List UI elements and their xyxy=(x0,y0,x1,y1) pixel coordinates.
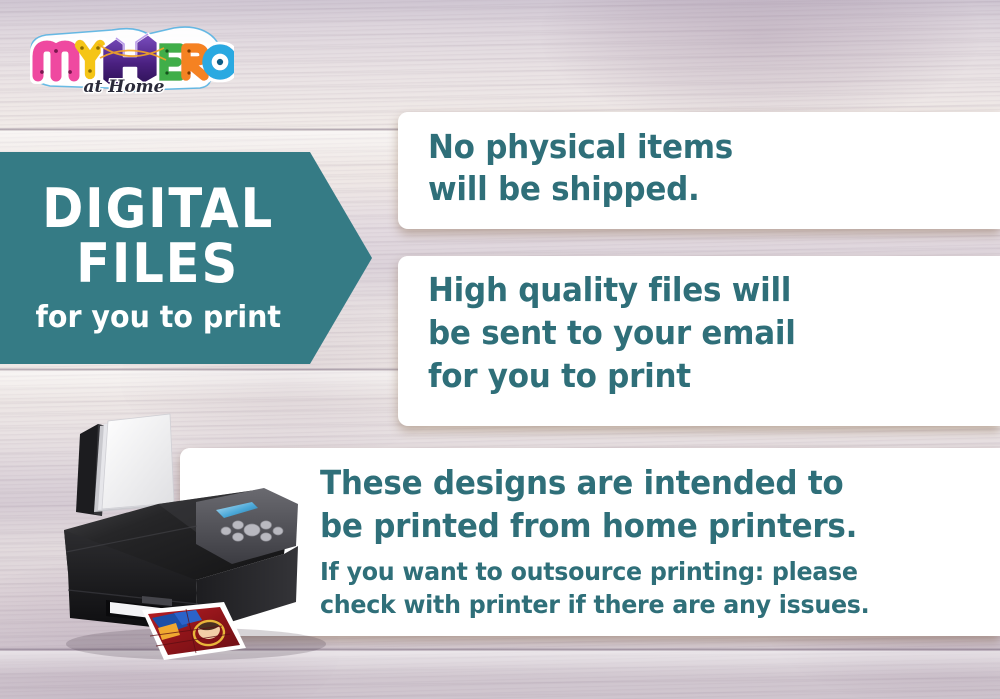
logo-tagline: at Home xyxy=(84,77,165,96)
card1-text: No physical items will be shipped. xyxy=(428,126,733,210)
poster-canvas: at Home DIGITAL FILES for you to print N… xyxy=(0,0,1000,699)
card2-line2: be sent to your email xyxy=(428,312,796,355)
banner-headline-line1: DIGITAL xyxy=(42,183,274,236)
card2-line3: for you to print xyxy=(428,355,796,398)
card3-headline-line1: These designs are intended to xyxy=(320,462,857,505)
brand-logo[interactable]: at Home xyxy=(24,24,234,96)
card2-line1: High quality files will xyxy=(428,269,796,312)
card3-headline: These designs are intended to be printed… xyxy=(320,462,857,548)
card2-text: High quality files will be sent to your … xyxy=(428,269,796,398)
printer-illustration xyxy=(46,404,336,664)
info-card-no-physical-items: No physical items will be shipped. xyxy=(398,112,1000,229)
printer-paper-stack xyxy=(94,414,174,512)
banner-subtitle: for you to print xyxy=(35,303,281,333)
card3-headline-line2: be printed from home printers. xyxy=(320,505,857,548)
card1-line1: No physical items xyxy=(428,126,733,168)
info-card-high-quality-files: High quality files will be sent to your … xyxy=(398,256,1000,426)
card1-line2: will be shipped. xyxy=(428,168,733,210)
banner-headline-line2: FILES xyxy=(76,238,239,291)
card3-subline-line1: If you want to outsource printing: pleas… xyxy=(320,556,869,589)
logo-letters-ero xyxy=(164,48,233,76)
card3-subline-line2: check with printer if there are any issu… xyxy=(320,589,869,622)
digital-files-banner: DIGITAL FILES for you to print xyxy=(0,152,372,364)
card3-subline: If you want to outsource printing: pleas… xyxy=(320,556,869,621)
